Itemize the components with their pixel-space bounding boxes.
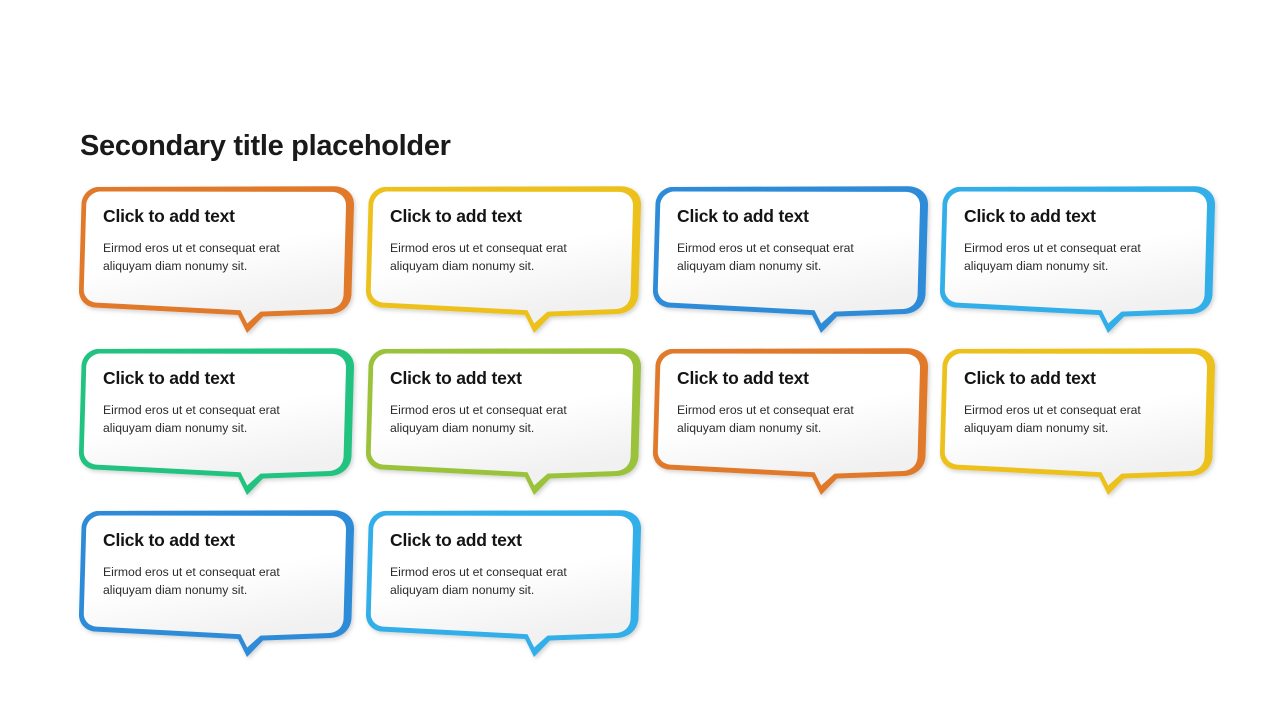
bubble-body-line-1: Eirmod eros ut et consequat erat bbox=[964, 401, 1180, 419]
bubble-body-line-2: aliquyam diam nonumy sit. bbox=[390, 419, 606, 437]
bubble-heading[interactable]: Click to add text bbox=[103, 368, 319, 389]
bubble-content: Click to add textEirmod eros ut et conse… bbox=[964, 206, 1180, 276]
slide-canvas: Secondary title placeholder Click to add… bbox=[0, 0, 1280, 720]
bubble-content: Click to add textEirmod eros ut et conse… bbox=[103, 368, 319, 438]
bubble-body-line-2: aliquyam diam nonumy sit. bbox=[964, 257, 1180, 275]
bubble-heading[interactable]: Click to add text bbox=[390, 530, 606, 551]
speech-bubble-yellow-r2c4[interactable]: Click to add textEirmod eros ut et conse… bbox=[936, 340, 1221, 500]
speech-bubble-orange-r2c3[interactable]: Click to add textEirmod eros ut et conse… bbox=[649, 340, 934, 500]
bubble-heading[interactable]: Click to add text bbox=[677, 368, 893, 389]
bubble-body-line-2: aliquyam diam nonumy sit. bbox=[103, 581, 319, 599]
bubble-content: Click to add textEirmod eros ut et conse… bbox=[103, 530, 319, 600]
bubble-body-text[interactable]: Eirmod eros ut et consequat erataliquyam… bbox=[677, 401, 893, 438]
bubble-heading[interactable]: Click to add text bbox=[390, 206, 606, 227]
bubble-body-line-2: aliquyam diam nonumy sit. bbox=[677, 419, 893, 437]
bubble-body-text[interactable]: Eirmod eros ut et consequat erataliquyam… bbox=[103, 239, 319, 276]
bubble-body-text[interactable]: Eirmod eros ut et consequat erataliquyam… bbox=[964, 401, 1180, 438]
bubble-body-line-1: Eirmod eros ut et consequat erat bbox=[390, 401, 606, 419]
bubble-body-line-2: aliquyam diam nonumy sit. bbox=[390, 257, 606, 275]
bubble-body-text[interactable]: Eirmod eros ut et consequat erataliquyam… bbox=[390, 239, 606, 276]
bubble-content: Click to add textEirmod eros ut et conse… bbox=[390, 368, 606, 438]
bubble-content: Click to add textEirmod eros ut et conse… bbox=[677, 206, 893, 276]
bubble-heading[interactable]: Click to add text bbox=[677, 206, 893, 227]
speech-bubble-lime-r2c2[interactable]: Click to add textEirmod eros ut et conse… bbox=[362, 340, 647, 500]
bubble-body-text[interactable]: Eirmod eros ut et consequat erataliquyam… bbox=[103, 563, 319, 600]
bubble-body-line-1: Eirmod eros ut et consequat erat bbox=[390, 239, 606, 257]
bubble-body-text[interactable]: Eirmod eros ut et consequat erataliquyam… bbox=[390, 401, 606, 438]
bubble-heading[interactable]: Click to add text bbox=[103, 206, 319, 227]
speech-bubble-grid: Click to add textEirmod eros ut et conse… bbox=[0, 0, 1280, 720]
bubble-body-text[interactable]: Eirmod eros ut et consequat erataliquyam… bbox=[103, 401, 319, 438]
bubble-body-line-2: aliquyam diam nonumy sit. bbox=[677, 257, 893, 275]
speech-bubble-green-r2c1[interactable]: Click to add textEirmod eros ut et conse… bbox=[75, 340, 360, 500]
speech-bubble-blue-r3c1[interactable]: Click to add textEirmod eros ut et conse… bbox=[75, 502, 360, 662]
bubble-body-text[interactable]: Eirmod eros ut et consequat erataliquyam… bbox=[390, 563, 606, 600]
bubble-body-line-2: aliquyam diam nonumy sit. bbox=[390, 581, 606, 599]
bubble-heading[interactable]: Click to add text bbox=[390, 368, 606, 389]
bubble-body-line-2: aliquyam diam nonumy sit. bbox=[103, 419, 319, 437]
bubble-heading[interactable]: Click to add text bbox=[103, 530, 319, 551]
bubble-body-line-1: Eirmod eros ut et consequat erat bbox=[103, 401, 319, 419]
bubble-content: Click to add textEirmod eros ut et conse… bbox=[964, 368, 1180, 438]
speech-bubble-yellow-r1c2[interactable]: Click to add textEirmod eros ut et conse… bbox=[362, 178, 647, 338]
speech-bubble-orange-r1c1[interactable]: Click to add textEirmod eros ut et conse… bbox=[75, 178, 360, 338]
bubble-body-line-1: Eirmod eros ut et consequat erat bbox=[103, 563, 319, 581]
speech-bubble-light-blue-r1c4[interactable]: Click to add textEirmod eros ut et conse… bbox=[936, 178, 1221, 338]
bubble-body-line-1: Eirmod eros ut et consequat erat bbox=[103, 239, 319, 257]
bubble-body-line-1: Eirmod eros ut et consequat erat bbox=[964, 239, 1180, 257]
bubble-content: Click to add textEirmod eros ut et conse… bbox=[677, 368, 893, 438]
bubble-body-line-1: Eirmod eros ut et consequat erat bbox=[677, 401, 893, 419]
bubble-heading[interactable]: Click to add text bbox=[964, 368, 1180, 389]
bubble-body-text[interactable]: Eirmod eros ut et consequat erataliquyam… bbox=[964, 239, 1180, 276]
bubble-body-text[interactable]: Eirmod eros ut et consequat erataliquyam… bbox=[677, 239, 893, 276]
bubble-heading[interactable]: Click to add text bbox=[964, 206, 1180, 227]
bubble-body-line-1: Eirmod eros ut et consequat erat bbox=[390, 563, 606, 581]
bubble-content: Click to add textEirmod eros ut et conse… bbox=[103, 206, 319, 276]
bubble-body-line-2: aliquyam diam nonumy sit. bbox=[964, 419, 1180, 437]
bubble-body-line-1: Eirmod eros ut et consequat erat bbox=[677, 239, 893, 257]
bubble-body-line-2: aliquyam diam nonumy sit. bbox=[103, 257, 319, 275]
speech-bubble-blue-r1c3[interactable]: Click to add textEirmod eros ut et conse… bbox=[649, 178, 934, 338]
bubble-content: Click to add textEirmod eros ut et conse… bbox=[390, 206, 606, 276]
bubble-content: Click to add textEirmod eros ut et conse… bbox=[390, 530, 606, 600]
speech-bubble-light-blue-r3c2[interactable]: Click to add textEirmod eros ut et conse… bbox=[362, 502, 647, 662]
